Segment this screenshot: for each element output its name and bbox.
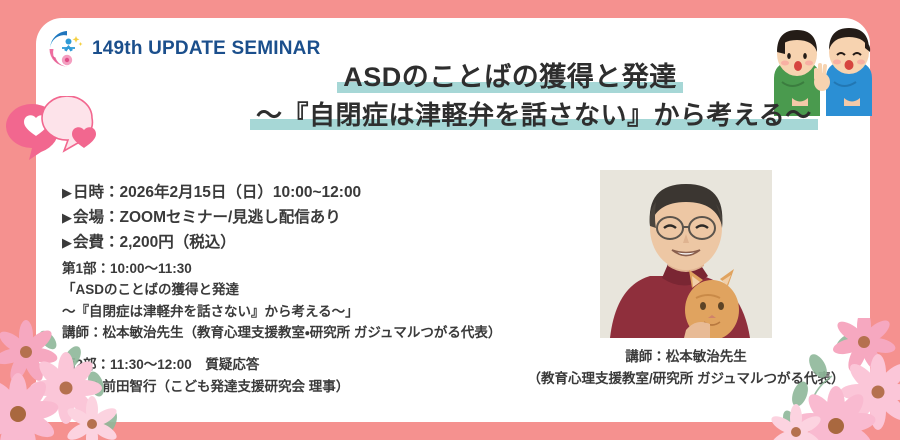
part1-lecturer: 講師：松本敏治先生（教育心理支援教室・研究所 ガジュマルつがる代表） bbox=[62, 322, 501, 343]
triangle-bullet-icon: ▶ bbox=[62, 210, 72, 225]
seminar-title: ASDのことばの獲得と発達 〜『自閉症は津軽弁を話さない』から考える〜 bbox=[250, 62, 770, 131]
part2-time: 第2部：11:30〜12:00 質疑応答 bbox=[62, 354, 501, 375]
info-fee-text: 会費：2,200円（税込） bbox=[73, 234, 236, 251]
speaker-photo bbox=[600, 170, 772, 338]
caption-affiliation: （教育心理支援教室/研究所 ガジュマルつがる代表） bbox=[500, 368, 872, 390]
info-line-fee: ▶会費：2,200円（税込） bbox=[62, 230, 361, 255]
info-line-datetime: ▶日時：2026年2月15日（日）10:00~12:00 bbox=[62, 180, 361, 205]
part1-title-line2: 〜『自閉症は津軽弁を話さない』から考える〜」 bbox=[62, 301, 501, 322]
triangle-bullet-icon: ▶ bbox=[62, 185, 72, 200]
program-spacer bbox=[62, 343, 501, 354]
title-line-2: 〜『自閉症は津軽弁を話さない』から考える〜 bbox=[250, 100, 818, 131]
seminar-swirl-logo-icon bbox=[46, 28, 88, 70]
seminar-info-list: ▶日時：2026年2月15日（日）10:00~12:00 ▶会場：ZOOMセミナ… bbox=[62, 180, 361, 255]
caption-name: 講師：松本敏治先生 bbox=[500, 346, 872, 368]
triangle-bullet-icon: ▶ bbox=[62, 235, 72, 250]
part2-moderator: 司会：前田智行（こども発達支援研究会 理事） bbox=[62, 376, 501, 397]
info-line-venue: ▶会場：ZOOMセミナー/見逃し配信あり bbox=[62, 205, 361, 230]
part1-time: 第1部：10:00〜11:30 bbox=[62, 258, 501, 279]
speaker-caption: 講師：松本敏治先生 （教育心理支援教室/研究所 ガジュマルつがる代表） bbox=[500, 346, 872, 389]
program-details: 第1部：10:00〜11:30 「ASDのことばの獲得と発達 〜『自閉症は津軽弁… bbox=[62, 258, 501, 397]
title-line-1-text: ASDのことばの獲得と発達 bbox=[343, 62, 677, 92]
info-venue-text: 会場：ZOOMセミナー/見逃し配信あり bbox=[73, 209, 341, 226]
title-line-2-text: 〜『自閉症は津軽弁を話さない』から考える〜 bbox=[256, 100, 812, 130]
bottom-pink-band bbox=[0, 422, 900, 440]
info-datetime-text: 日時：2026年2月15日（日）10:00~12:00 bbox=[73, 184, 361, 201]
title-line-1: ASDのことばの獲得と発達 bbox=[337, 62, 683, 94]
seminar-poster: 149th UPDATE SEMINAR bbox=[0, 0, 900, 440]
series-label: 149th UPDATE SEMINAR bbox=[92, 38, 321, 60]
heart-speech-bubbles-icon bbox=[6, 96, 126, 172]
part1-title-line1: 「ASDのことばの獲得と発達 bbox=[62, 279, 501, 300]
